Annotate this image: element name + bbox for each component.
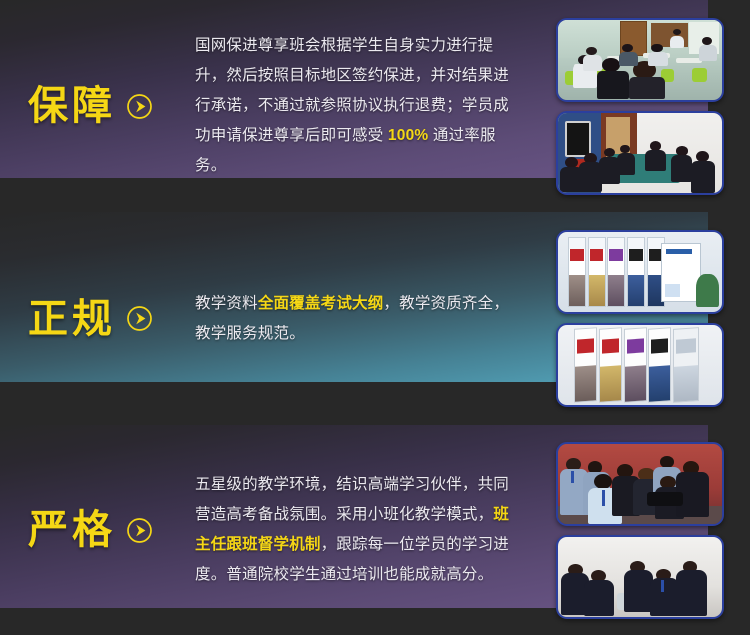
play-arrow-circle-icon[interactable] xyxy=(126,93,153,120)
feature-section-standard: 正规 教学资料全面覆盖考试大纲，教学资质齐全，教学服务规范。 xyxy=(0,212,750,425)
photo-column-guarantee xyxy=(530,0,750,212)
play-arrow-circle-icon[interactable] xyxy=(126,517,153,544)
play-arrow-circle-icon[interactable] xyxy=(126,305,153,332)
lounge-discussion-photo xyxy=(556,535,724,619)
feature-section-guarantee: 保障 国网保进尊享班会根据学生自身实力进行提升，然后按照目标地区签约保进，并对结… xyxy=(0,0,750,212)
photo-column-standard xyxy=(530,212,750,425)
meeting-room-interview-photo xyxy=(556,111,724,195)
study-group-photo xyxy=(556,442,724,526)
exhibition-banners-photo xyxy=(556,230,724,314)
classroom-students-photo xyxy=(556,18,724,102)
paragraph-strict: 五星级的教学环境，结识高端学习伙伴，共同营造高考备战氛围。采用小班化教学模式，班… xyxy=(195,470,517,590)
feature-section-strict: 严格 五星级的教学环境，结识高端学习伙伴，共同营造高考备战氛围。采用小班化教学模… xyxy=(0,425,750,635)
section-heading-group-strict: 严格 xyxy=(0,510,195,550)
section-heading-group-standard: 正规 xyxy=(0,299,195,339)
paragraph-highlight: 100% xyxy=(388,127,428,144)
textbook-stack-photo xyxy=(556,323,724,407)
section-title-standard: 正规 xyxy=(28,299,116,339)
paragraph-part: 五星级的教学环境，结识高端学习伙伴，共同营造高考备战氛围。采用小班化教学模式， xyxy=(195,476,509,523)
paragraph-part: 教学资料 xyxy=(195,295,258,312)
paragraph-standard: 教学资料全面覆盖考试大纲，教学资质齐全，教学服务规范。 xyxy=(195,289,517,349)
section-body-standard: 教学资料全面覆盖考试大纲，教学资质齐全，教学服务规范。 xyxy=(195,289,535,349)
section-body-strict: 五星级的教学环境，结识高端学习伙伴，共同营造高考备战氛围。采用小班化教学模式，班… xyxy=(195,470,535,590)
photo-column-strict xyxy=(530,425,750,635)
section-title-guarantee: 保障 xyxy=(28,86,116,126)
section-title-strict: 严格 xyxy=(28,510,116,550)
section-heading-group-guarantee: 保障 xyxy=(0,86,195,126)
paragraph-highlight: 全面覆盖考试大纲 xyxy=(258,295,384,312)
promo-feature-page: 保障 国网保进尊享班会根据学生自身实力进行提升，然后按照目标地区签约保进，并对结… xyxy=(0,0,750,635)
section-body-guarantee: 国网保进尊享班会根据学生自身实力进行提升，然后按照目标地区签约保进，并对结果进行… xyxy=(195,31,535,181)
paragraph-guarantee: 国网保进尊享班会根据学生自身实力进行提升，然后按照目标地区签约保进，并对结果进行… xyxy=(195,31,517,181)
